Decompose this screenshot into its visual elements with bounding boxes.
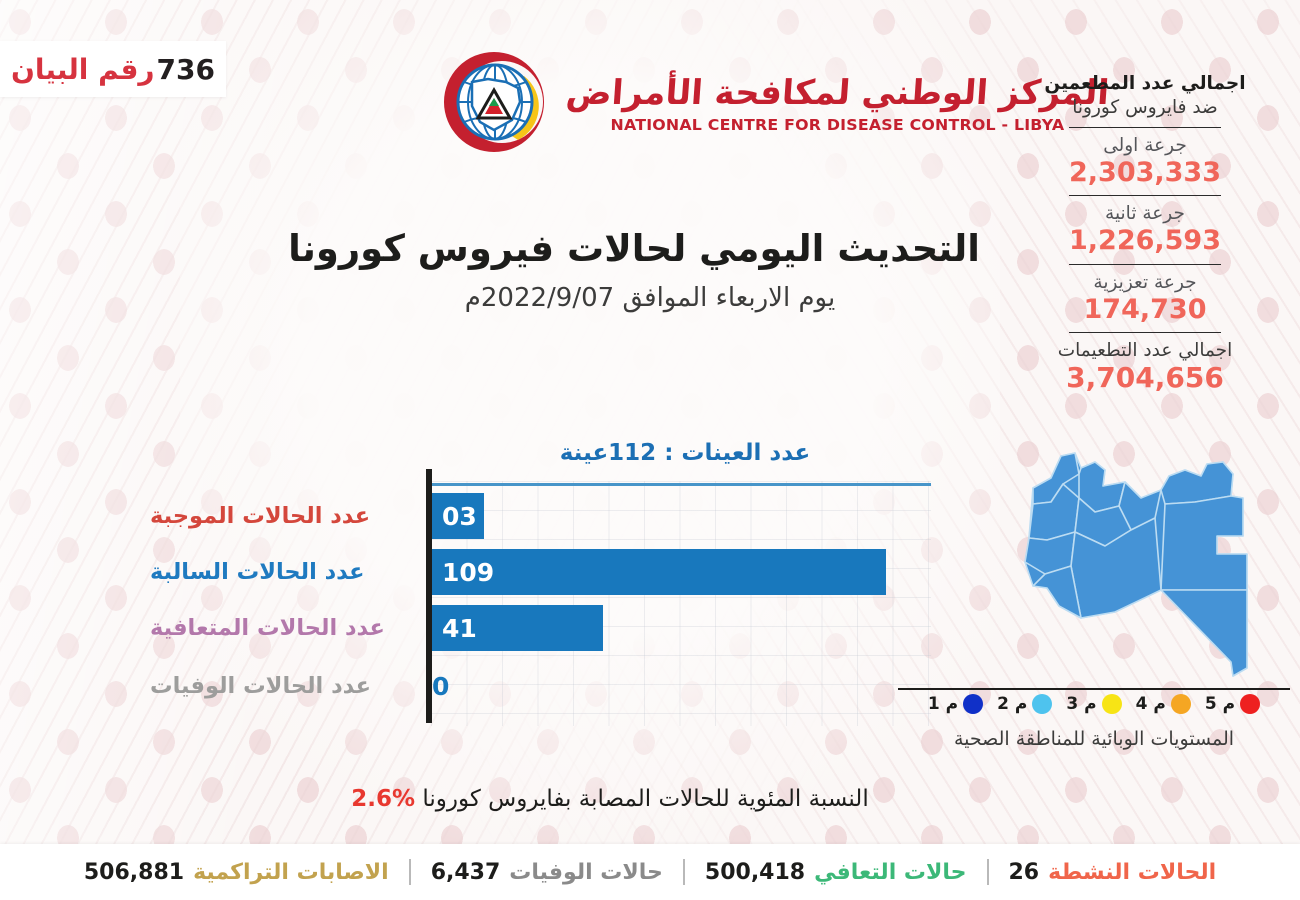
vaccination-divider-3 (1069, 264, 1221, 265)
ncdc-logo-arabic-name: المركز الوطني لمكافحة الأمراض (565, 76, 1110, 110)
footer-stat-value: 6,437 (431, 860, 501, 885)
footer-stat-label: حالات الوفيات (509, 860, 663, 885)
statement-number-value: 736 (157, 53, 215, 86)
chart-category-label: عدد الحالات الوفيات (150, 663, 418, 709)
chart-category-label: عدد الحالات السالبة (150, 549, 418, 595)
chart-category-label: عدد الحالات الموجبة (150, 493, 418, 539)
map-legend-item: م 1 (928, 694, 983, 714)
map-legend-caption: المستويات الوبائية للمناطقة الصحية (898, 728, 1290, 750)
vaccination-dose2-label: جرعة ثانية (1036, 202, 1254, 225)
positivity-rate-line: النسبة المئوية للحالات المصابة بفايروس ك… (260, 786, 960, 812)
map-region (1161, 590, 1247, 676)
infographic-page: 736 رقم البيان (0, 0, 1300, 900)
chart-bar: 03 (432, 493, 484, 539)
vaccination-item-dose2: جرعة ثانية 1,226,593 (1036, 202, 1254, 256)
ncdc-logo-mark-icon (432, 46, 558, 158)
statement-number-label: رقم البيان (11, 53, 155, 86)
vaccination-item-booster: جرعة تعزيزية 174,730 (1036, 271, 1254, 325)
chart-bar-row: 109 (432, 549, 886, 595)
chart-value-axis (426, 469, 432, 723)
statement-number-badge: 736 رقم البيان (0, 41, 226, 97)
vaccination-total-value: 3,704,656 (1036, 362, 1254, 394)
vaccination-total: اجمالي عدد التطعيمات 3,704,656 (1036, 339, 1254, 394)
footer-separator (987, 859, 989, 885)
footer-separator (683, 859, 685, 885)
chart-title: عدد العينات : 112عينة (430, 440, 940, 466)
libya-epidemic-map (955, 440, 1285, 710)
map-legend: م 5م 4م 3م 2م 1 (898, 694, 1290, 714)
vaccination-booster-value: 174,730 (1036, 294, 1254, 325)
vaccination-total-label: اجمالي عدد التطعيمات (1036, 339, 1254, 362)
chart-bars: 03109410 (432, 481, 932, 726)
map-legend-item: م 4 (1136, 694, 1191, 714)
footer-stat-label: الحالات النشطة (1048, 860, 1216, 885)
vaccination-divider-4 (1069, 332, 1221, 333)
ncdc-logo-english-name: NATIONAL CENTRE FOR DISEASE CONTROL - LI… (611, 116, 1065, 134)
legend-level-label: م 1 (928, 694, 958, 714)
vaccination-panel: اجمالي عدد المطعمين ضد فايروس كورونا جرع… (1036, 72, 1254, 394)
legend-level-label: م 2 (997, 694, 1027, 714)
vaccination-divider-1 (1069, 127, 1221, 128)
footer-stat-label: الاصابات التراكمية (193, 860, 389, 885)
chart-bar-row: 03 (432, 493, 484, 539)
vaccination-dose1-label: جرعة اولى (1036, 134, 1254, 157)
page-title: التحديث اليومي لحالات فيروس كورونا (320, 228, 980, 271)
legend-level-dot-icon (1240, 694, 1260, 714)
legend-level-label: م 3 (1066, 694, 1096, 714)
footer-stat: الاصابات التراكمية506,881 (64, 860, 409, 885)
subtitle-prefix: يوم الاربعاء الموافق (622, 283, 835, 313)
legend-level-dot-icon (1032, 694, 1052, 714)
positivity-rate-value: 2.6% (351, 786, 415, 812)
vaccination-divider-2 (1069, 195, 1221, 196)
summary-footer: الحالات النشطة26حالات التعافي500,418حالا… (0, 844, 1300, 900)
ncdc-logo: المركز الوطني لمكافحة الأمراض NATIONAL C… (432, 44, 892, 160)
legend-level-label: م 5 (1205, 694, 1235, 714)
legend-level-dot-icon (1171, 694, 1191, 714)
title-block: التحديث اليومي لحالات فيروس كورونا يوم ا… (320, 228, 980, 313)
footer-stat: حالات الوفيات6,437 (411, 860, 683, 885)
vaccination-heading: اجمالي عدد المطعمين (1036, 72, 1254, 95)
chart-bar-value: 0 (432, 672, 457, 701)
map-legend-divider (898, 688, 1290, 690)
footer-stat: الحالات النشطة26 (989, 860, 1237, 885)
footer-stat-value: 500,418 (705, 860, 805, 885)
footer-stat-value: 506,881 (84, 860, 184, 885)
ncdc-logo-text: المركز الوطني لمكافحة الأمراض NATIONAL C… (566, 70, 1109, 134)
chart-bar: 109 (432, 549, 886, 595)
vaccination-subheading: ضد فايروس كورونا (1036, 96, 1254, 120)
map-legend-item: م 3 (1066, 694, 1121, 714)
vaccination-booster-label: جرعة تعزيزية (1036, 271, 1254, 294)
chart-category-labels: عدد الحالات الموجبةعدد الحالات السالبةعد… (150, 481, 418, 726)
chart-category-label: عدد الحالات المتعافية (150, 605, 418, 651)
chart-bar-row: 41 (432, 605, 603, 651)
map-legend-item: م 5 (1205, 694, 1260, 714)
chart-bar-value: 109 (442, 558, 494, 587)
date-suffix: م (465, 283, 481, 313)
legend-level-label: م 4 (1136, 694, 1166, 714)
page-subtitle: يوم الاربعاء الموافق 2022/9/07م (320, 283, 980, 313)
positivity-rate-label: النسبة المئوية للحالات المصابة بفايروس ك… (422, 786, 868, 812)
chart-bar: 41 (432, 605, 603, 651)
chart-bar-row: 0 (432, 663, 457, 709)
footer-stat-value: 26 (1009, 860, 1040, 885)
chart-bar-value: 03 (442, 502, 477, 531)
vaccination-item-dose1: جرعة اولى 2,303,333 (1036, 134, 1254, 188)
footer-stat: حالات التعافي500,418 (685, 860, 987, 885)
footer-stat-label: حالات التعافي (814, 860, 966, 885)
vaccination-dose1-value: 2,303,333 (1036, 157, 1254, 188)
legend-level-dot-icon (963, 694, 983, 714)
report-date: 2022/9/07 (481, 283, 614, 313)
vaccination-dose2-value: 1,226,593 (1036, 225, 1254, 256)
chart-bar-value: 41 (442, 614, 477, 643)
legend-level-dot-icon (1102, 694, 1122, 714)
footer-separator (409, 859, 411, 885)
map-legend-item: م 2 (997, 694, 1052, 714)
map-region (1161, 496, 1247, 590)
